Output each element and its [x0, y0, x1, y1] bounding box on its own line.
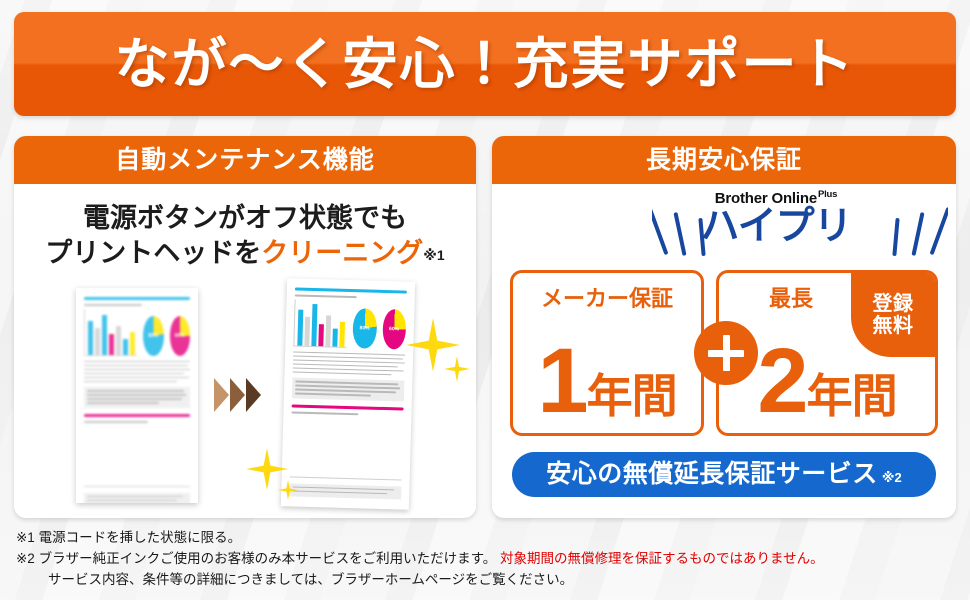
- logo-plus-superscript: Plus: [818, 189, 837, 200]
- lead-footnote-mark: ※1: [423, 247, 444, 263]
- donut-left-unit-after: %: [365, 325, 370, 331]
- card-left-lead-copy: 電源ボタンがオフ状態でも プリントヘッドをクリーニング※1: [14, 184, 476, 270]
- promo-banner-root: なが〜く安心！充実サポート 自動メンテナンス機能 電源ボタンがオフ状態でも プリ…: [0, 0, 970, 600]
- warranty-term-group: メーカー保証 1年間 登録 無料 最長 2年間: [510, 270, 938, 436]
- ribbon-line-1: 登録: [873, 294, 914, 315]
- haipuri-logo: Brother OnlinePlus ハイプリ: [492, 190, 956, 264]
- extended-warranty-service-footnote-mark: ※2: [882, 470, 902, 486]
- headline-banner: なが〜く安心！充実サポート: [14, 12, 956, 116]
- donut-chart-right: 60%: [170, 316, 191, 356]
- extended-warranty-service-button[interactable]: 安心の無償延長保証サービス ※2: [512, 452, 936, 497]
- donut-right-unit: %: [180, 333, 184, 339]
- manufacturer-warranty-label: メーカー保証: [513, 288, 701, 310]
- lead-line-2-plain: プリントヘッドを: [45, 238, 261, 268]
- extended-warranty-number: 2: [757, 330, 805, 432]
- logo-brand-line: Brother OnlinePlus: [651, 190, 901, 206]
- extended-warranty-service-label: 安心の無償延長保証サービス: [546, 462, 878, 487]
- footnote-3: サービス内容、条件等の詳細につきましては、ブラザーホームページをご覧ください。: [16, 570, 916, 591]
- manufacturer-warranty-unit: 年間: [587, 370, 677, 422]
- extended-warranty-unit: 年間: [807, 370, 897, 422]
- donut-chart-right-after: 60%: [382, 309, 407, 350]
- lead-line-1: 電源ボタンがオフ状態でも: [83, 203, 407, 233]
- card-right-header-title: 長期安心保証: [646, 148, 802, 173]
- manufacturer-warranty-box: メーカー保証 1年間: [510, 270, 704, 436]
- footnote-2-text: ※2 ブラザー純正インクご使用のお客様のみ本サービスをご利用いただけます。: [16, 551, 496, 566]
- card-long-term-warranty: 長期安心保証: [492, 136, 956, 518]
- headline-text: なが〜く安心！充実サポート: [114, 37, 855, 92]
- extended-warranty-label: 最長: [725, 288, 857, 310]
- footnote-2: ※2 ブラザー純正インクご使用のお客様のみ本サービスをご利用いただけます。 対象…: [16, 549, 916, 570]
- manufacturer-warranty-term: 1年間: [513, 339, 701, 424]
- footnote-2-warning: 対象期間の無償修理を保証するものではありません。: [500, 551, 824, 566]
- donut-right-unit-after: %: [395, 326, 400, 332]
- card-left-header-title: 自動メンテナンス機能: [115, 148, 375, 173]
- ribbon-line-2: 無料: [873, 316, 914, 337]
- donut-left-unit: %: [154, 333, 158, 339]
- card-left-header: 自動メンテナンス機能: [14, 136, 476, 184]
- transition-arrow-icon: [214, 378, 261, 412]
- sparkle-icon: [406, 318, 460, 372]
- donut-chart-left-after: 80%: [352, 308, 377, 349]
- lead-line-2-highlight: クリーニング: [261, 238, 423, 268]
- footnotes: ※1 電源コードを挿した状態に限る。 ※2 ブラザー純正インクご使用のお客様のみ…: [16, 528, 916, 591]
- manufacturer-warranty-number: 1: [537, 330, 585, 432]
- card-auto-maintenance: 自動メンテナンス機能 電源ボタンがオフ状態でも プリントヘッドをクリーニング※1: [14, 136, 476, 518]
- logo-service-name: ハイプリ: [651, 207, 901, 248]
- before-document-sheet: 80% 60%: [76, 288, 198, 503]
- document-comparison-illustration: 80% 60%: [14, 280, 476, 518]
- footnote-1: ※1 電源コードを挿した状態に限る。: [16, 528, 916, 549]
- card-left-body: 電源ボタンがオフ状態でも プリントヘッドをクリーニング※1: [14, 184, 476, 518]
- after-document-sheet: 80% 60%: [281, 278, 415, 509]
- card-right-body: Brother OnlinePlus ハイプリ メーカー保証 1年間 登録: [492, 184, 956, 518]
- card-right-header: 長期安心保証: [492, 136, 956, 184]
- sparkle-icon: [444, 356, 470, 382]
- plus-operator-icon: [694, 321, 758, 385]
- donut-chart-left: 80%: [143, 316, 164, 356]
